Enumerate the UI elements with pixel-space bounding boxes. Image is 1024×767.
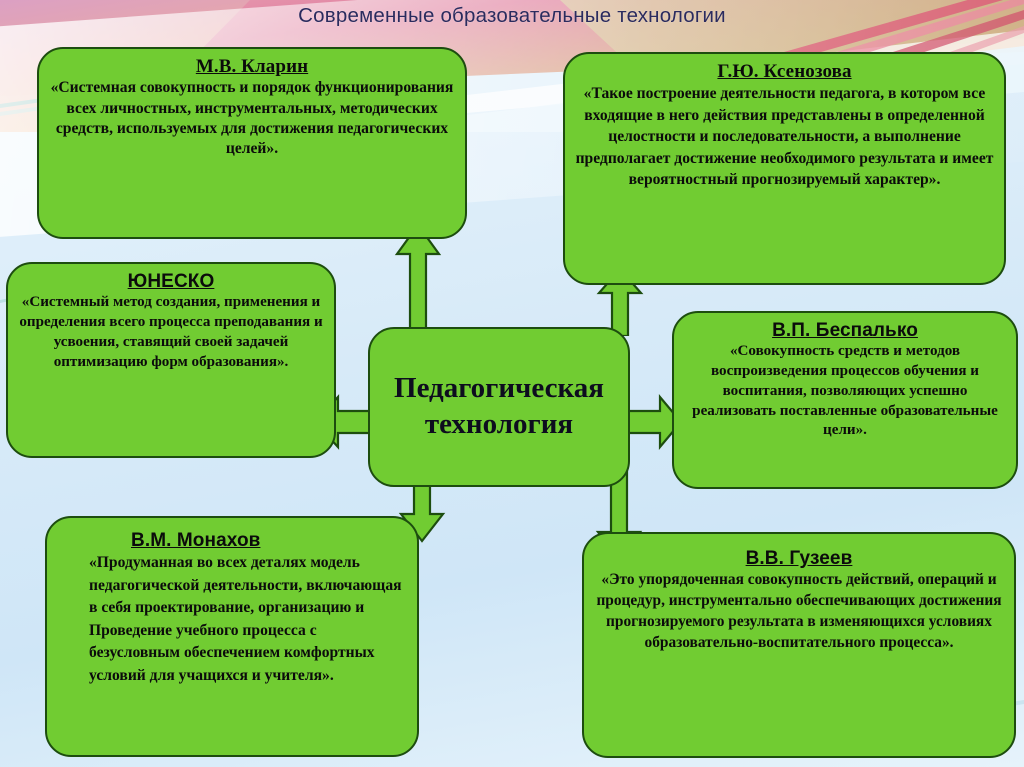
slide-canvas: Современные образовательные технологии: [0, 0, 1024, 767]
node-box-bespalko[interactable]: В.П. Беспалько «Совокупность средств и м…: [672, 311, 1018, 489]
center-node-pedagogical-technology[interactable]: Педагогическая технология: [368, 327, 630, 487]
node-box-ksenozova[interactable]: Г.Ю. Ксенозова «Такое построение деятель…: [563, 52, 1006, 285]
node-author-monahov: В.М. Монахов: [89, 530, 411, 551]
node-author-bespalko: В.П. Беспалько: [684, 320, 1006, 341]
node-text-unesco: «Системный метод создания, применения и …: [18, 293, 324, 372]
node-text-bespalko: «Совокупность средств и методов воспроиз…: [684, 342, 1006, 441]
node-author-guzeev: В.В. Гузеев: [594, 548, 1004, 569]
node-text-monahov: «Продуманная во всех деталях модель педа…: [89, 552, 411, 687]
node-author-klarin: М.В. Кларин: [49, 56, 455, 77]
node-author-unesco: ЮНЕСКО: [18, 271, 324, 292]
center-node-label: Педагогическая технология: [394, 371, 604, 443]
node-text-klarin: «Системная совокупность и порядок функци…: [49, 78, 455, 159]
node-box-guzeev[interactable]: В.В. Гузеев «Это упорядоченная совокупно…: [582, 532, 1016, 758]
slide-title: Современные образовательные технологии: [0, 4, 1024, 28]
node-box-monahov[interactable]: В.М. Монахов «Продуманная во всех деталя…: [45, 516, 419, 757]
node-text-guzeev: «Это упорядоченная совокупность действий…: [594, 570, 1004, 654]
node-box-klarin[interactable]: М.В. Кларин «Системная совокупность и по…: [37, 47, 467, 239]
center-node-line2: технология: [394, 407, 604, 443]
node-text-ksenozova: «Такое построение деятельности педагога,…: [575, 83, 994, 191]
node-author-ksenozova: Г.Ю. Ксенозова: [575, 61, 994, 82]
center-node-line1: Педагогическая: [394, 371, 604, 407]
node-box-unesco[interactable]: ЮНЕСКО «Системный метод создания, примен…: [6, 262, 336, 458]
